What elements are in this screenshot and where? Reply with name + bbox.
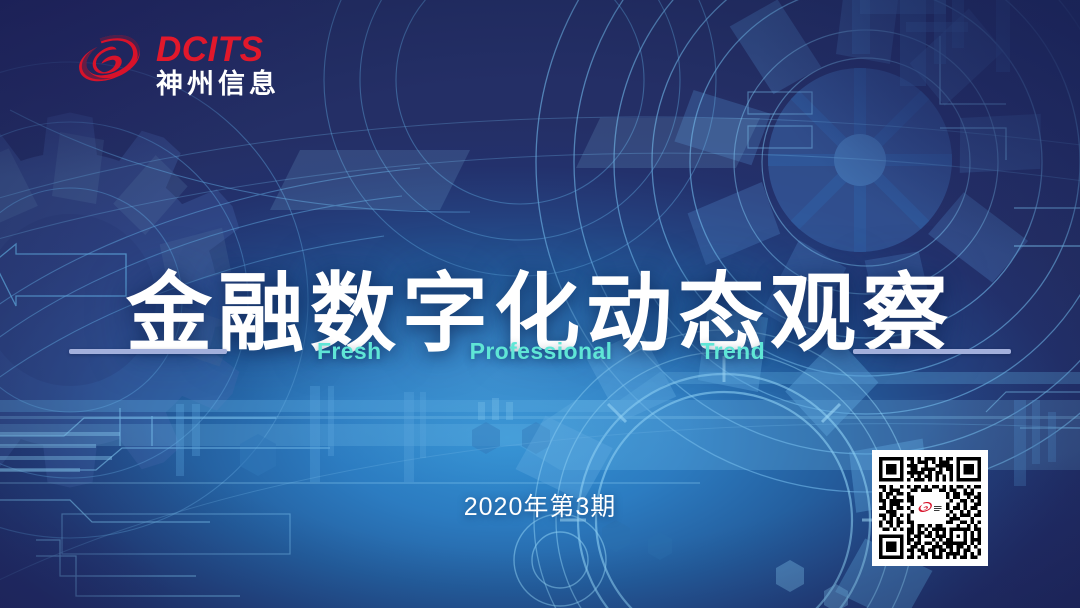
brand-logo: DCITS 神州信息: [72, 30, 280, 98]
logo-text-block: DCITS 神州信息: [156, 30, 280, 98]
tagline-row: Fresh Professional Trend: [0, 338, 1080, 365]
logo-wordmark: DCITS: [156, 32, 280, 67]
dcits-swirl-mark-icon: [72, 31, 146, 97]
tagline-word-professional: Professional: [426, 338, 657, 365]
logo-chinese-name: 神州信息: [156, 71, 280, 98]
qr-code-canvas: [879, 457, 981, 559]
slide-canvas: DCITS 神州信息 金融数字化动态观察 Fresh Professional …: [0, 0, 1080, 608]
qr-code[interactable]: [872, 450, 988, 566]
tagline-word-fresh: Fresh: [273, 338, 426, 365]
tagline-rule-left: [69, 349, 227, 354]
qr-center-logo-icon: [914, 492, 946, 524]
tagline-word-trend: Trend: [656, 338, 809, 365]
tagline-rule-right: [853, 349, 1011, 354]
